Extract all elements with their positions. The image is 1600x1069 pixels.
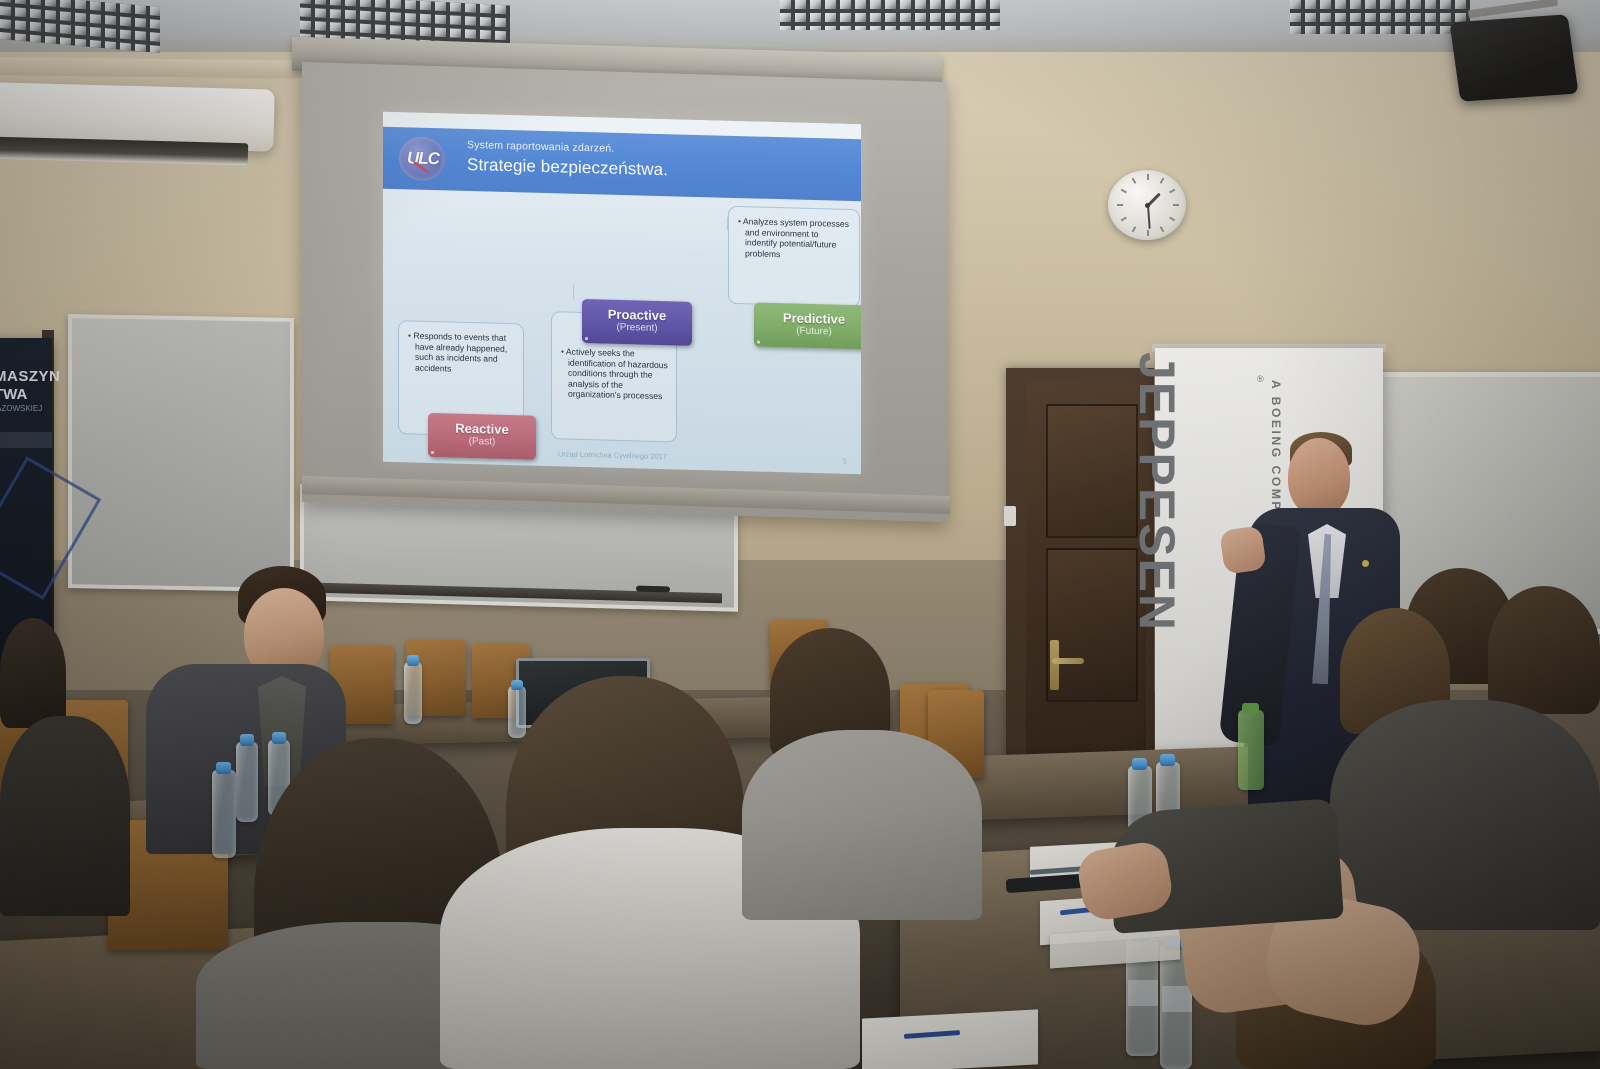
node-predictive-sublabel: (Future) (754, 324, 861, 339)
water-bottle[interactable] (404, 662, 422, 724)
ulc-logo-icon: ULC (399, 136, 445, 181)
bottle-cap (407, 655, 419, 666)
wall-clock (1108, 170, 1186, 240)
audience-member-head (0, 618, 66, 728)
audience-member-body (742, 730, 982, 920)
bottle-cap (240, 734, 254, 746)
ceiling-light-icon (1290, 0, 1470, 34)
registered-mark-icon: ® (1257, 374, 1264, 384)
marker-icon (636, 586, 670, 593)
slide-header: ULC System raportowania zdarzeń. Strateg… (383, 127, 861, 202)
node-proactive-sublabel: (Present) (582, 321, 692, 336)
bottle-cap (1242, 703, 1259, 714)
jeppesen-brand-text: JEPPESEN (1124, 352, 1186, 752)
left-banner-line1: MASZYN (0, 368, 60, 385)
presentation-slide: ULC System raportowania zdarzeń. Strateg… (383, 112, 861, 475)
green-bottle[interactable] (1238, 710, 1264, 790)
notepad[interactable] (862, 1009, 1038, 1069)
water-bottle[interactable] (212, 770, 236, 858)
bottle-cap (216, 762, 231, 774)
audience-member-body (0, 716, 130, 916)
left-banner-line3: AZOWSKIEJ (0, 404, 42, 413)
presenter-lapel-pin-icon (1362, 560, 1369, 567)
left-banner-line2: TWA (0, 386, 27, 403)
door-handle-icon[interactable] (1052, 658, 1084, 664)
speaker-icon (1449, 14, 1578, 101)
node-proactive: Proactive (Present) (582, 299, 692, 346)
clock-minute-hand (1147, 204, 1151, 229)
node-predictive: Predictive (Future) (754, 302, 861, 349)
callout-predictive: Analyzes system processes and environmen… (728, 206, 860, 307)
conference-room-photo: (function(){ document.querySelectorAll('… (0, 0, 1600, 1069)
audience-member-body (1330, 700, 1600, 930)
slide-title: Strategie bezpieczeństwa. (467, 155, 668, 180)
bottle-label (1162, 986, 1192, 1012)
bottle-cap (272, 732, 286, 744)
bottle-cap (1160, 754, 1175, 766)
connector-line (573, 285, 574, 299)
bottle-cap (1132, 758, 1147, 770)
bottle-label (1128, 980, 1158, 1006)
slide-page-number: 5 (843, 457, 847, 466)
presenter-hand (1219, 525, 1267, 574)
node-reactive-sublabel: (Past) (428, 435, 536, 450)
slide-footer: Urząd Lotnictwa Cywilnego 2017 (558, 449, 667, 461)
callout-predictive-text: Analyzes system processes and environmen… (729, 207, 859, 262)
whiteboard-left (68, 314, 294, 592)
water-bottle[interactable] (508, 686, 526, 738)
bottle-cap (511, 680, 523, 690)
presenter-head (1288, 438, 1350, 516)
audience-member-head (1488, 586, 1600, 714)
slide-subtitle: System raportowania zdarzeń. (467, 139, 614, 155)
light-switch[interactable] (1004, 506, 1016, 526)
door-handle-plate[interactable] (1050, 640, 1059, 690)
water-bottle[interactable] (236, 742, 258, 822)
ceiling-light-icon (780, 0, 1000, 30)
callout-reactive-text: Responds to events that have already hap… (399, 321, 523, 376)
node-reactive: Reactive (Past) (428, 413, 536, 460)
